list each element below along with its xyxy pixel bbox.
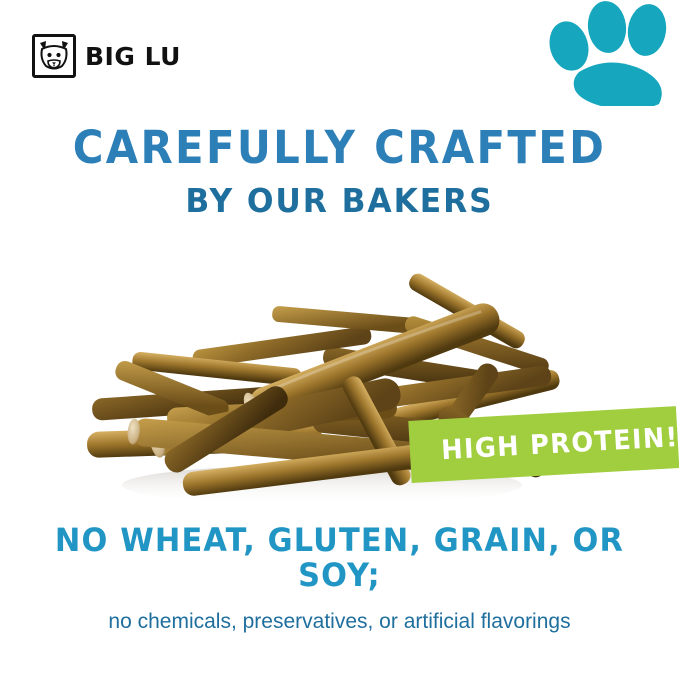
status-badge-label: HIGH PROTEIN! bbox=[440, 422, 679, 466]
headline-line-2: BY OUR BAKERS bbox=[17, 184, 662, 219]
headline-block: CAREFULLY CRAFTED BY OUR BAKERS bbox=[0, 124, 679, 219]
dog-head-icon bbox=[32, 34, 76, 78]
brand-wordmark: BIG LU bbox=[85, 44, 181, 69]
claim-primary: NO WHEAT, GLUTEN, GRAIN, OR SOY; bbox=[17, 523, 662, 593]
product-infographic: BIG LU CAREFULLY CRAFTED BY OUR BAKERS bbox=[0, 0, 679, 679]
headline-line-1: CAREFULLY CRAFTED bbox=[24, 124, 655, 171]
claims-block: NO WHEAT, GLUTEN, GRAIN, OR SOY; no chem… bbox=[0, 523, 679, 633]
brand-logo: BIG LU bbox=[32, 31, 154, 81]
paw-print-icon bbox=[547, 0, 679, 106]
claim-secondary: no chemicals, preservatives, or artifici… bbox=[0, 610, 679, 633]
